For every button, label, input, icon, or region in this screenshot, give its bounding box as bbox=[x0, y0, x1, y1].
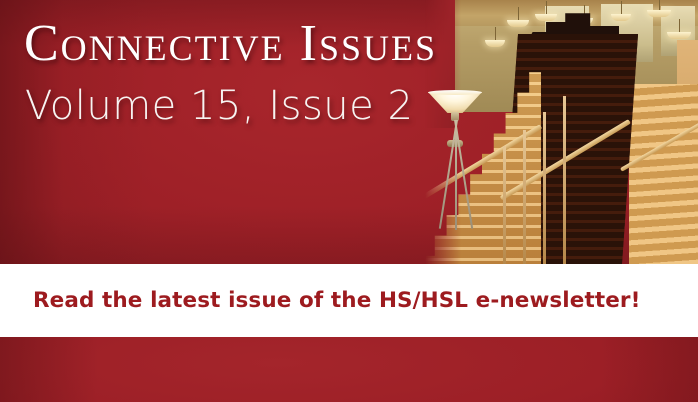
pendant-light-6 bbox=[667, 32, 691, 39]
rail-post-2 bbox=[523, 130, 526, 264]
rail-post-1 bbox=[503, 146, 506, 264]
issue-subtitle: Volume 15, Issue 2 bbox=[25, 86, 413, 126]
newsletter-banner: Connective Issues Volume 15, Issue 2 Rea… bbox=[0, 0, 698, 402]
footer-strip bbox=[0, 337, 698, 402]
page-title: Connective Issues bbox=[24, 18, 437, 70]
pendant-light-2 bbox=[535, 14, 557, 21]
lamp-rim bbox=[428, 90, 482, 95]
callout-band[interactable]: Read the latest issue of the HS/HSL e-ne… bbox=[0, 264, 698, 337]
pendant-light-1 bbox=[507, 20, 529, 27]
rail-post-3 bbox=[543, 112, 546, 264]
photo-right-staircase bbox=[629, 84, 698, 264]
callout-text[interactable]: Read the latest issue of the HS/HSL e-ne… bbox=[33, 288, 641, 313]
rail-post-4 bbox=[563, 96, 566, 264]
pendant-light-5 bbox=[647, 10, 671, 17]
